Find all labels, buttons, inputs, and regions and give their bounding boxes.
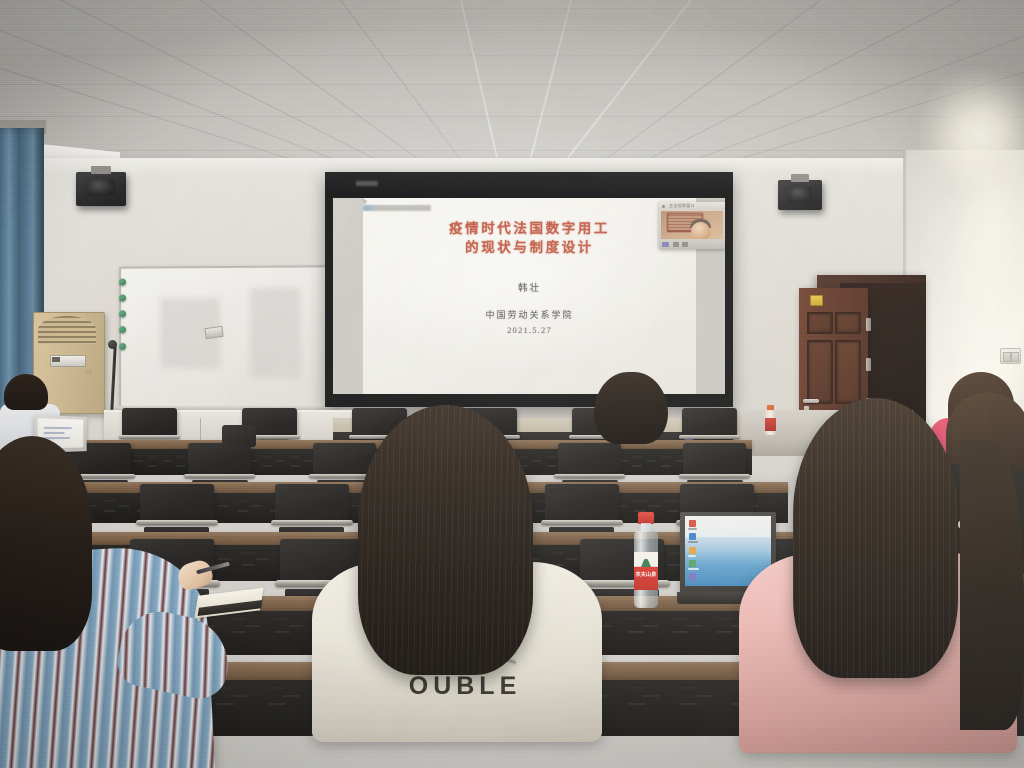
door-sticker-icon: [810, 295, 823, 306]
door-panel: [835, 340, 861, 404]
presentation-slide: 疫情时代法国数字用工 的现状与制度设计 韩壮 中国劳动关系学院 2021.5.2…: [363, 198, 696, 394]
valance-logo-icon: [356, 181, 378, 186]
ac-display-icon: [52, 357, 60, 362]
desk-panel-slot: [648, 505, 660, 507]
desktop-icon-label: [688, 568, 699, 570]
desktop-icon[interactable]: [689, 533, 696, 540]
desktop-icon-label: [688, 555, 696, 557]
desk-panel-slot: [717, 618, 732, 620]
magnet-icon: [119, 294, 126, 301]
slide-title-line-1: 疫情时代法国数字用工: [363, 220, 696, 238]
magnet-icon: [119, 310, 126, 317]
desk-panel-slot: [251, 505, 263, 507]
desk-panel-slot: [672, 618, 687, 620]
ac-badge: [85, 370, 92, 375]
desk-panel-slot: [262, 465, 272, 467]
microphone-icon: [108, 340, 117, 349]
slide-author: 韩壮: [363, 280, 696, 294]
desktop-icon[interactable]: [689, 560, 696, 567]
desk-panel-slot: [686, 625, 701, 627]
desk-panel-slot: [275, 618, 290, 620]
desktop-icon[interactable]: [689, 573, 696, 580]
ac-vent-icon: [38, 316, 96, 344]
light-switch-rocker[interactable]: [1003, 352, 1011, 362]
desk-panel-slot: [290, 465, 300, 467]
desk-panel-slot: [661, 456, 671, 458]
person-hair-highlight: [793, 398, 958, 678]
door-panel: [807, 340, 833, 404]
desk-panel-slot: [667, 552, 680, 554]
projection-screen-valance: [325, 172, 733, 198]
speaker-cone-icon: [87, 179, 115, 196]
video-window-title: 会议视频窗口: [669, 203, 695, 209]
person-hair: [960, 440, 1024, 730]
screen-text-line: [44, 427, 72, 429]
desk-panel-slot: [642, 695, 660, 697]
desktop-icon-label: [688, 541, 698, 543]
desk-panel-slot: [268, 687, 286, 689]
light-switch-rocker[interactable]: [1011, 352, 1019, 362]
person-hair: [4, 374, 48, 410]
participant-face-icon: [691, 222, 710, 239]
magnet-icon: [119, 343, 126, 350]
door-hinge-icon: [866, 318, 871, 331]
desk-panel-slot: [628, 687, 646, 689]
light-switch-plate[interactable]: [1000, 348, 1021, 364]
chair-armrest: [679, 435, 740, 439]
desk-panel-slot: [632, 465, 642, 467]
video-conference-window[interactable]: 会议视频窗口: [659, 202, 725, 249]
door-panel: [835, 312, 861, 334]
speaker-cone-icon: [788, 187, 813, 202]
desk-panel-slot: [268, 703, 286, 705]
speaker-bracket-icon: [791, 174, 809, 182]
desk-panel-slot: [628, 618, 643, 620]
person-center-foreground: OUBLE: [300, 400, 630, 768]
slide-organization: 中国劳动关系学院: [363, 308, 696, 321]
water-bottle: 农夫山泉: [633, 512, 659, 608]
bottle-brand-text: 农夫山泉: [635, 572, 657, 578]
projection-screen-surface: 疫情时代法国数字用工 的现状与制度设计 韩壮 中国劳动关系学院 2021.5.2…: [333, 198, 725, 394]
classroom-photo: 疫情时代法国数字用工 的现状与制度设计 韩壮 中国劳动关系学院 2021.5.2…: [0, 0, 1024, 768]
desk-panel-slot: [680, 703, 698, 705]
desk-panel-slot: [632, 456, 642, 458]
desk-panel-slot: [282, 695, 300, 697]
desk-panel-slot: [262, 456, 272, 458]
video-window-titlebar[interactable]: 会议视频窗口: [659, 202, 725, 210]
desk-panel-slot: [634, 500, 646, 502]
slide-title-line-2: 的现状与制度设计: [363, 239, 696, 257]
desktop-icon[interactable]: [689, 520, 696, 527]
desk-panel-slot: [256, 558, 269, 560]
whiteboard: [119, 265, 337, 415]
camera-toggle-icon[interactable]: [673, 242, 679, 247]
desktop-icon[interactable]: [689, 547, 696, 554]
sweatshirt-text: OUBLE: [360, 672, 570, 701]
desk-panel-slot: [667, 510, 679, 512]
desk-panel-slot: [661, 465, 671, 467]
whiteboard-smudge: [250, 288, 300, 379]
video-feed: [661, 211, 723, 239]
magnet-icon: [119, 326, 126, 333]
magnet-icon: [119, 279, 126, 286]
chair-back: [682, 408, 737, 436]
desk-panel-slot: [290, 456, 300, 458]
person-hair-highlight: [358, 405, 533, 675]
door-hinge-icon: [866, 358, 871, 371]
person-far-right-foreground: [960, 440, 1024, 768]
desk-panel-slot: [628, 703, 646, 705]
share-screen-icon[interactable]: [682, 242, 688, 247]
person-hair: [0, 436, 92, 651]
wall-speaker-right: [778, 180, 822, 210]
speaker-bracket-icon: [91, 166, 111, 174]
mic-toggle-icon[interactable]: [662, 242, 669, 247]
desk-panel-slot: [642, 625, 657, 627]
door-panel: [807, 312, 833, 334]
desk-panel-slot: [667, 564, 680, 566]
desk-panel-slot: [667, 500, 679, 502]
slide-date: 2021.5.27: [363, 325, 696, 335]
window-status-icon: [662, 205, 665, 208]
desk-panel-slot: [694, 695, 712, 697]
wall-speaker-left: [76, 172, 126, 206]
desktop-icon-label: [688, 528, 697, 530]
video-window-toolbar[interactable]: [659, 240, 725, 249]
desk-panel-slot: [680, 687, 698, 689]
slide-watermark: [363, 205, 431, 211]
ceiling-shading: [0, 0, 1024, 178]
